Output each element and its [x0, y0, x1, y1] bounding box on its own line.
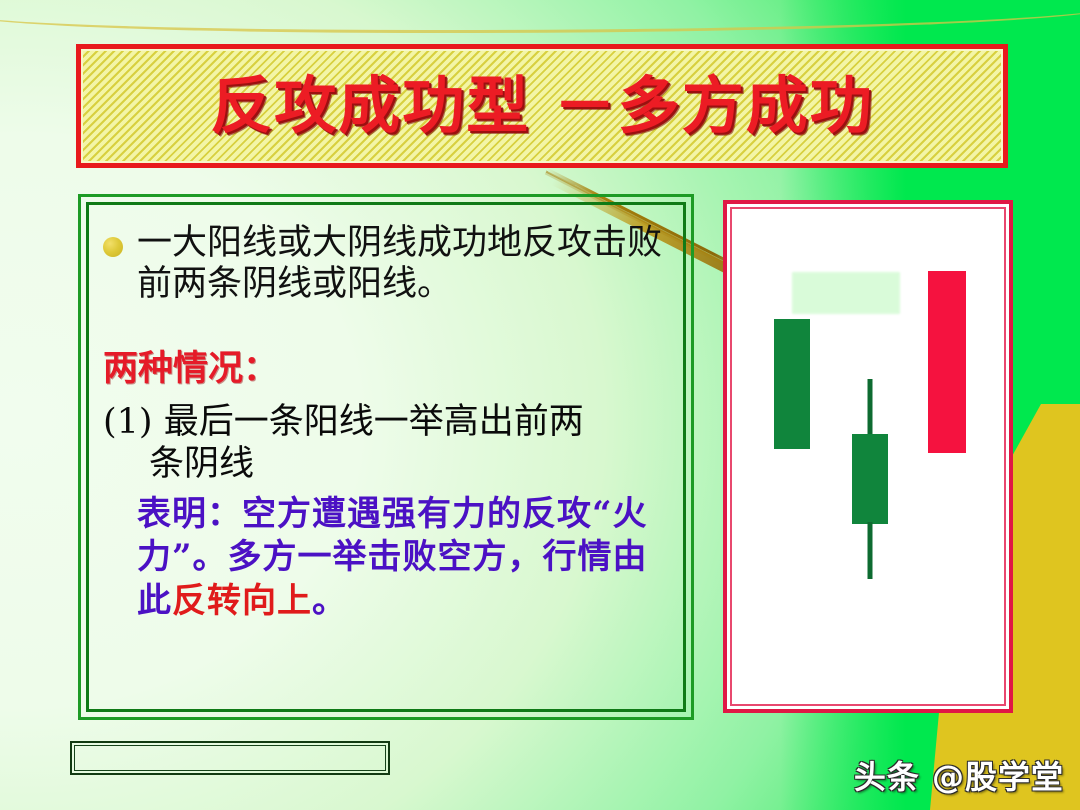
candle-2-lower-wick	[868, 522, 873, 579]
explanation-suffix: 。	[312, 581, 347, 621]
candle-2-body	[852, 434, 888, 524]
bullet-text: 一大阳线或大阴线成功地反攻击败前两条阴线或阳线。	[137, 223, 669, 304]
obscured-label-overlay	[792, 272, 900, 314]
candle-1	[774, 319, 810, 449]
candlestick-chart-panel	[723, 200, 1013, 713]
case-one-number: (1)	[103, 402, 153, 442]
title-banner: 反攻成功型 －多方成功	[76, 44, 1008, 168]
bullet-item: 一大阳线或大阴线成功地反攻击败前两条阴线或阳线。	[103, 223, 669, 304]
two-cases-heading: 两种情况：	[103, 350, 669, 389]
explanation-highlight: 反转向上	[172, 581, 312, 621]
explanation-text: 表明：空方遭遇强有力的反攻“火力”。多方一举击败空方，行情由此反转向上。	[103, 493, 669, 624]
case-one-line2: 条阴线	[103, 443, 669, 485]
slide-canvas: 反攻成功型 －多方成功 一大阳线或大阴线成功地反攻击败前两条阴线或阳线。 两种情…	[0, 0, 1080, 810]
candle-1-body	[774, 319, 810, 449]
candle-3-body	[928, 271, 966, 453]
watermark-label: 头条 @股学堂	[854, 752, 1064, 798]
footer-placeholder-box-inner	[74, 745, 386, 771]
candle-2-upper-wick	[868, 379, 873, 439]
case-one-text: (1) 最后一条阳线一举高出前两 条阴线	[103, 401, 669, 485]
content-panel-inner: 一大阳线或大阴线成功地反攻击败前两条阴线或阳线。 两种情况： (1) 最后一条阳…	[86, 202, 686, 712]
footer-placeholder-box	[70, 741, 390, 775]
content-panel: 一大阳线或大阴线成功地反攻击败前两条阴线或阳线。 两种情况： (1) 最后一条阳…	[78, 194, 694, 720]
case-one-line1: 最后一条阳线一举高出前两	[153, 402, 584, 442]
candle-3	[928, 271, 966, 453]
bullet-dot-icon	[103, 237, 123, 257]
page-title: 反攻成功型 －多方成功	[210, 75, 874, 137]
candlestick-chart-area	[730, 207, 1006, 706]
candle-2	[852, 379, 888, 579]
